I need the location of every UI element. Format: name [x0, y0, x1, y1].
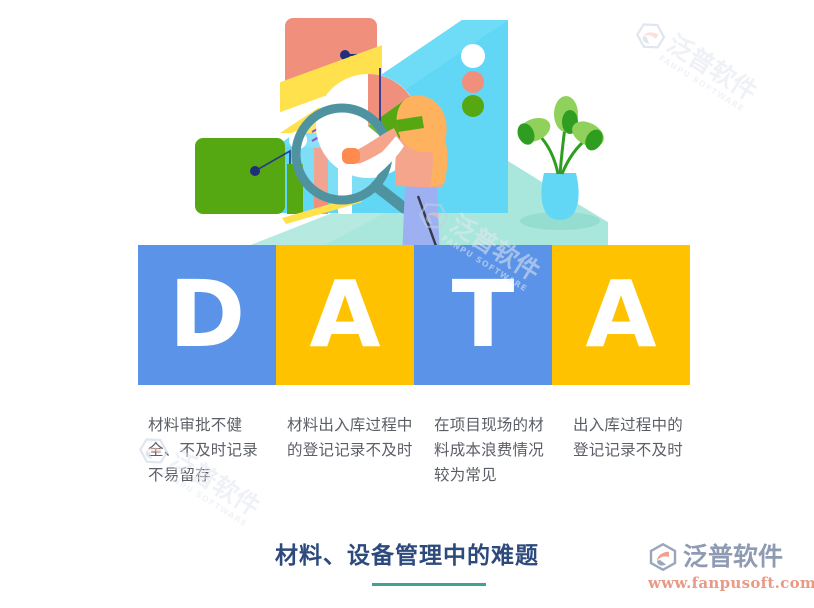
watermark-logo-icon [630, 15, 671, 56]
tile-letter-a1: A [309, 269, 380, 361]
fanpu-logo-icon [648, 542, 678, 572]
plant-stem-1 [538, 134, 558, 174]
plant-vase [541, 173, 578, 220]
person-hand [342, 148, 360, 164]
watermark-top-right: 泛普软件 FANPU SOFTWARE [625, 55, 795, 150]
data-tiles-row: D A T A [138, 245, 690, 385]
caption-4: 出入库过程中的登记记录不及时 [561, 413, 702, 503]
pin-dot-green [250, 166, 260, 176]
title-underline [372, 583, 486, 586]
caption-1: 材料审批不健全、不及时记录不易留存 [138, 413, 279, 503]
caption-3: 在项目现场的材料成本浪费情况较为常见 [420, 413, 561, 503]
watermark-name: 泛普软件 [663, 31, 761, 105]
tile-a2: A [552, 245, 690, 385]
tile-letter-a2: A [585, 269, 656, 361]
tile-a1: A [276, 245, 414, 385]
data-analysis-illustration [190, 8, 610, 258]
poster-canvas: D A T A 材料审批不健全、不及时记录不易留存 材料出入库过程中的登记记录不… [0, 0, 814, 608]
brand-logo: 泛普软件 www.fanpusoft.com [648, 540, 798, 598]
caption-2: 材料出入库过程中的登记记录不及时 [279, 413, 420, 503]
tile-d: D [138, 245, 276, 385]
tile-t: T [414, 245, 552, 385]
captions-row: 材料审批不健全、不及时记录不易留存 材料出入库过程中的登记记录不及时 在项目现场… [138, 413, 704, 503]
dot-white [461, 44, 485, 68]
floating-card-green [195, 138, 285, 214]
watermark-sub: FANPU SOFTWARE [657, 54, 747, 115]
tile-letter-d: D [169, 269, 245, 361]
brand-name: 泛普软件 [683, 544, 783, 569]
tile-letter-t: T [452, 269, 515, 361]
dot-green [462, 95, 484, 117]
brand-url: www.fanpusoft.com [648, 574, 798, 592]
dot-salmon [462, 71, 484, 93]
